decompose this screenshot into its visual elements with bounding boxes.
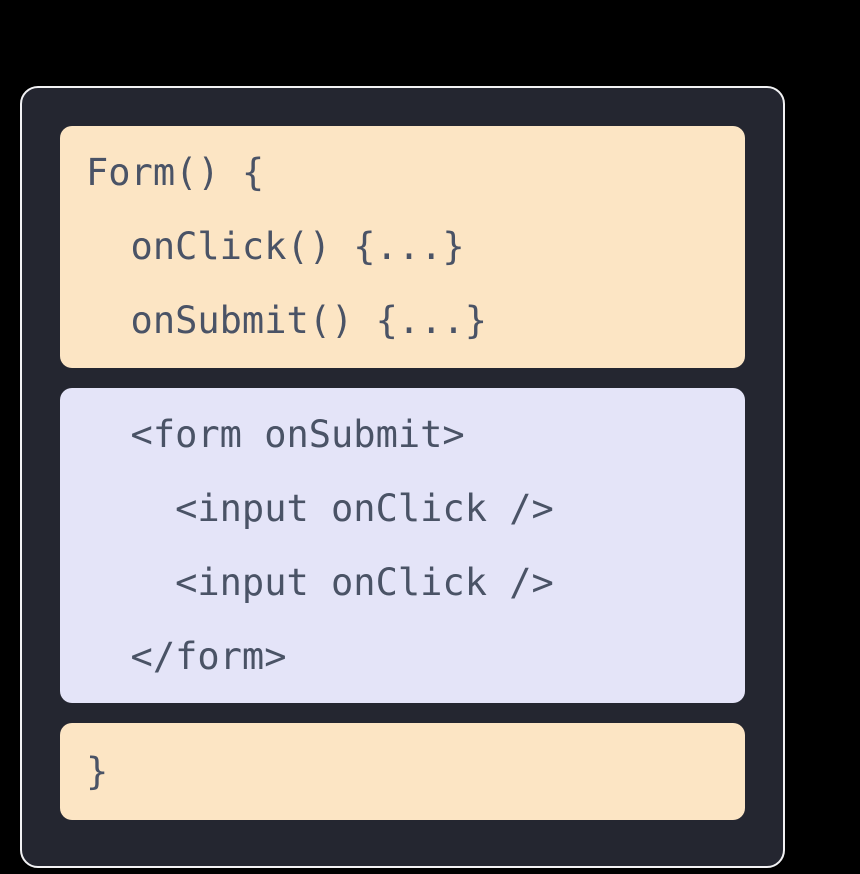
code-block-component: Form() { onClick() {...} onSubmit() {...… bbox=[60, 126, 745, 368]
code-line: onClick() {...} bbox=[86, 210, 719, 284]
code-line: <input onClick /> bbox=[86, 546, 719, 620]
code-line: onSubmit() {...} bbox=[86, 284, 719, 358]
code-block-closing: } bbox=[60, 723, 745, 820]
code-line: <form onSubmit> bbox=[86, 398, 719, 472]
code-card: Form() { onClick() {...} onSubmit() {...… bbox=[20, 86, 785, 868]
code-line: Form() { bbox=[86, 136, 719, 210]
code-line: } bbox=[86, 742, 719, 802]
code-line: </form> bbox=[86, 620, 719, 694]
code-line: <input onClick /> bbox=[86, 472, 719, 546]
code-block-markup: <form onSubmit> <input onClick /> <input… bbox=[60, 388, 745, 703]
